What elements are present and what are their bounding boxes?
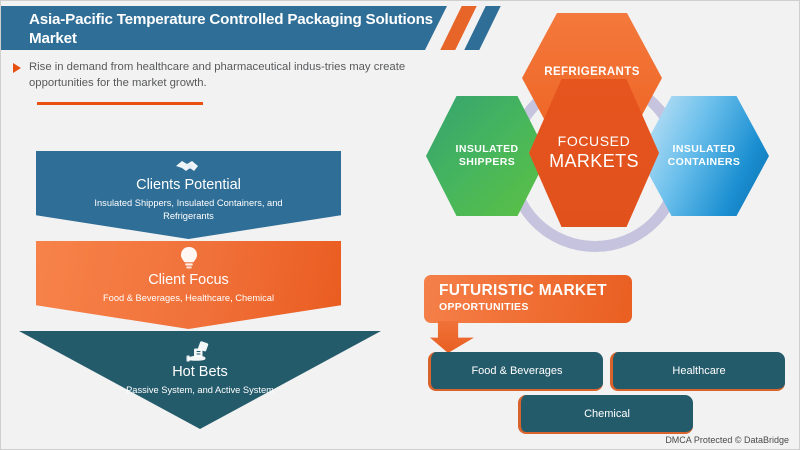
futuristic-market-banner: FUTURISTIC MARKET OPPORTUNITIES	[424, 275, 632, 323]
funnel-band-subtitle: Passive System, and Active System	[19, 384, 381, 397]
hexagon-label: INSULATED CONTAINERS	[639, 143, 769, 169]
infographic-page: Asia-Pacific Temperature Controlled Pack…	[0, 0, 800, 450]
page-title: Asia-Pacific Temperature Controlled Pack…	[29, 10, 449, 49]
focused-markets-diagram: REFRIGERANTS INSULATED SHIPPERS INSULATE…	[411, 1, 800, 266]
bullet-row: Rise in demand from healthcare and pharm…	[13, 59, 433, 92]
bullet-text: Rise in demand from healthcare and pharm…	[29, 59, 433, 92]
hexagon-label: REFRIGERANTS	[544, 65, 640, 79]
hexagon-label: INSULATED SHIPPERS	[426, 143, 548, 169]
triangle-right-icon	[13, 63, 21, 73]
funnel-band-subtitle: Food & Beverages, Healthcare, Chemical	[36, 292, 341, 305]
funnel-band-clients-potential[interactable]: Clients Potential Insulated Shippers, In…	[36, 151, 341, 239]
funnel-band-client-focus[interactable]: Client Focus Food & Beverages, Healthcar…	[36, 241, 341, 329]
hexagon-label-line1: FOCUSED	[558, 133, 631, 150]
opportunity-box-food-beverages[interactable]: Food & Beverages	[428, 352, 603, 391]
opportunity-label: Chemical	[584, 408, 630, 420]
opportunity-label: Healthcare	[672, 365, 725, 377]
funnel-band-title: Hot Bets	[19, 364, 381, 380]
opportunity-label: Food & Beverages	[471, 365, 562, 377]
footer-note: DMCA Protected © DataBridge	[665, 435, 789, 445]
funnel-band-title: Client Focus	[36, 272, 341, 288]
funnel-band-subtitle: Insulated Shippers, Insulated Containers…	[36, 197, 341, 222]
opportunity-box-healthcare[interactable]: Healthcare	[610, 352, 785, 391]
title-underline	[37, 102, 203, 105]
funnel-band-hot-bets[interactable]: Hot Bets Passive System, and Active Syst…	[19, 331, 381, 429]
hexagon-label-line2: MARKETS	[549, 151, 639, 173]
funnel-band-title: Clients Potential	[36, 177, 341, 193]
funnel-diagram: Clients Potential Insulated Shippers, In…	[1, 141, 401, 391]
opportunity-box-chemical[interactable]: Chemical	[518, 395, 693, 434]
arrow-down-icon	[430, 321, 474, 353]
futuristic-market-subtitle: OPPORTUNITIES	[439, 301, 632, 313]
futuristic-market-title: FUTURISTIC MARKET	[439, 282, 632, 300]
